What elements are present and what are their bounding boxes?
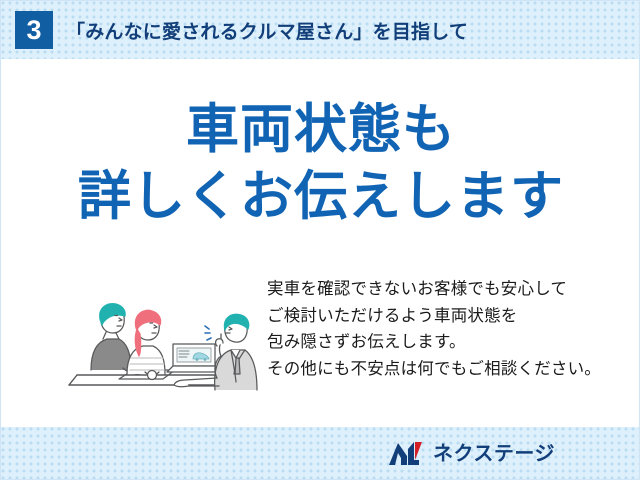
header: 3 「みんなに愛されるクルマ屋さん」を目指して: [1, 1, 640, 59]
consultation-illustration: [53, 282, 263, 402]
body-copy-line-4: その他にも不安点は何でもご相談ください。: [267, 356, 601, 383]
laptop: [167, 344, 221, 372]
headline: 車両状態も 詳しくお伝えします: [1, 97, 640, 231]
body-copy-line-3: 包み隠さずお伝えします。: [267, 329, 601, 356]
female-customer: [127, 310, 165, 379]
step-number-badge: 3: [15, 11, 53, 49]
headline-line-2: 詳しくお伝えします: [1, 164, 640, 231]
body-copy-line-1: 実車を確認できないお客様でも安心して: [267, 276, 601, 303]
speech-marks: [205, 326, 211, 340]
headline-line-1: 車両状態も: [1, 97, 640, 164]
header-title: 「みんなに愛されるクルマ屋さん」を目指して: [66, 17, 468, 44]
nextage-logo-text: ネクステージ: [433, 444, 555, 464]
footer-logo: ネクステージ: [1, 427, 640, 480]
promo-banner: 3 「みんなに愛されるクルマ屋さん」を目指して 車両状態も 詳しくお伝えします: [0, 0, 640, 480]
body-copy: 実車を確認できないお客様でも安心して ご検討いただけるよう車両状態を 包み隠さず…: [267, 276, 601, 383]
content-row: 実車を確認できないお客様でも安心して ご検討いただけるよう車両状態を 包み隠さず…: [1, 276, 640, 401]
nextage-n-logo-icon: [388, 441, 426, 467]
body-copy-line-2: ご検討いただけるよう車両状態を: [267, 303, 601, 330]
consultation-illustration-svg: [53, 282, 263, 397]
